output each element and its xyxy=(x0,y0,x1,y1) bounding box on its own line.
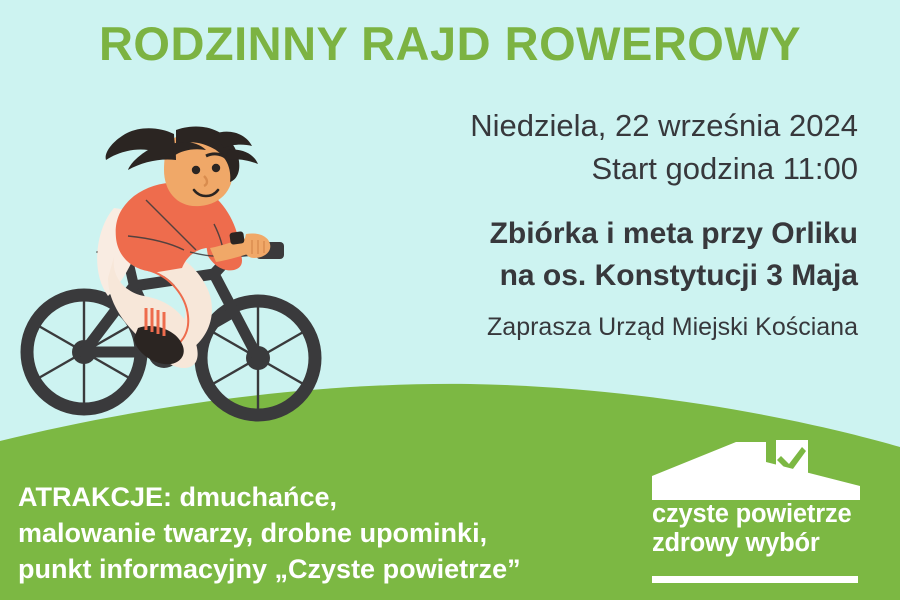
attractions-line-3: punkt informacyjny „Czyste powietrze” xyxy=(18,552,638,588)
attractions-line-1: ATRAKCJE: dmuchańce, xyxy=(18,480,638,516)
event-time: Start godzina 11:00 xyxy=(338,147,858,190)
page-title: RODZINNY RAJD ROWEROWY xyxy=(0,20,900,67)
logo-line-1: czyste powietrze xyxy=(652,500,864,529)
details-spacer xyxy=(338,191,858,213)
event-place-line-2: na os. Konstytucji 3 Maja xyxy=(338,255,858,297)
event-details: Niedziela, 22 września 2024 Start godzin… xyxy=(338,104,858,343)
czyste-powietrze-logo: czyste powietrze zdrowy wybór xyxy=(648,440,864,586)
rider-eye-left xyxy=(192,166,200,174)
logo-line-2: zdrowy wybór xyxy=(652,529,864,558)
attractions-line-2: malowanie twarzy, drobne upominki, xyxy=(18,516,638,552)
rider-eye-right xyxy=(212,164,220,172)
event-host: Zaprasza Urząd Miejski Kościana xyxy=(338,311,858,344)
logo-text-block: czyste powietrze zdrowy wybór xyxy=(648,500,864,558)
details-spacer-2 xyxy=(338,297,858,311)
logo-underline-bar xyxy=(652,576,858,583)
rider-wristband xyxy=(229,231,245,245)
rider-head xyxy=(106,126,258,206)
poster-canvas: RODZINNY RAJD ROWEROWY Niedziela, 22 wrz… xyxy=(0,0,900,600)
woman-riding-bicycle-illustration xyxy=(18,100,338,440)
attractions-block: ATRAKCJE: dmuchańce, malowanie twarzy, d… xyxy=(18,480,638,588)
event-date: Niedziela, 22 września 2024 xyxy=(338,104,858,147)
house-roof-with-checkmark-icon xyxy=(648,440,864,502)
event-place-line-1: Zbiórka i meta przy Orliku xyxy=(338,213,858,255)
